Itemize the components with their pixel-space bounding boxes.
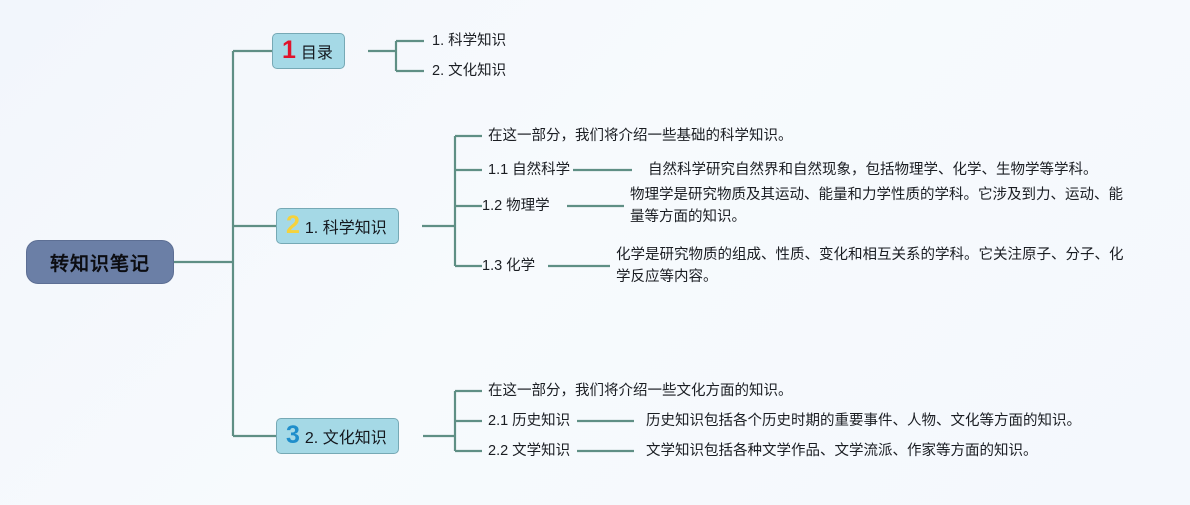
branch-label-culture: 2. 文化知识 <box>305 424 387 448</box>
leaf-title: 1.1 自然科学 <box>488 162 570 178</box>
branch-node-science[interactable]: 2 1. 科学知识 <box>276 208 399 244</box>
leaf-culture-intro[interactable]: 在这一部分，我们将介绍一些文化方面的知识。 <box>488 381 793 403</box>
leaf-culture-2-2-desc[interactable]: 文学知识包括各种文学作品、文学流派、作家等方面的知识。 <box>646 441 1038 463</box>
root-node[interactable]: 转知识笔记 <box>26 240 174 284</box>
leaf-desc: 化学是研究物质的组成、性质、变化和相互关系的学科。它关注原子、分子、化学反应等内… <box>616 247 1124 285</box>
root-label: 转知识笔记 <box>50 249 150 276</box>
branch-number-2: 2 <box>286 213 300 238</box>
leaf-culture-2-2-title[interactable]: 2.2 文学知识 <box>488 441 570 463</box>
leaf-desc: 自然科学研究自然界和自然现象，包括物理学、化学、生物学等学科。 <box>648 162 1098 178</box>
leaf-culture-2-1-desc[interactable]: 历史知识包括各个历史时期的重要事件、人物、文化等方面的知识。 <box>646 411 1081 433</box>
leaf-science-1-1-title[interactable]: 1.1 自然科学 <box>488 160 570 182</box>
leaf-desc: 文学知识包括各种文学作品、文学流派、作家等方面的知识。 <box>646 443 1038 459</box>
leaf-science-1-2-desc[interactable]: 物理学是研究物质及其运动、能量和力学性质的学科。它涉及到力、运动、能量等方面的知… <box>630 185 1128 229</box>
leaf-title: 2.1 历史知识 <box>488 413 570 429</box>
leaf-catalog-2[interactable]: 2. 文化知识 <box>432 61 506 83</box>
leaf-title: 2.2 文学知识 <box>488 443 570 459</box>
leaf-desc: 历史知识包括各个历史时期的重要事件、人物、文化等方面的知识。 <box>646 413 1081 429</box>
leaf-science-1-2-title[interactable]: 1.2 物理学 <box>482 196 550 218</box>
leaf-title: 在这一部分，我们将介绍一些文化方面的知识。 <box>488 383 793 399</box>
branch-label-catalog: 目录 <box>301 39 333 63</box>
leaf-science-1-3-desc[interactable]: 化学是研究物质的组成、性质、变化和相互关系的学科。它关注原子、分子、化学反应等内… <box>616 245 1128 289</box>
mindmap-canvas: 转知识笔记 1 目录 1. 科学知识 2. 文化知识 2 1. 科学知识 在这一… <box>0 0 1190 505</box>
leaf-science-intro[interactable]: 在这一部分，我们将介绍一些基础的科学知识。 <box>488 126 793 148</box>
leaf-title: 1.2 物理学 <box>482 198 550 214</box>
branch-number-1: 1 <box>282 38 296 63</box>
branch-node-catalog[interactable]: 1 目录 <box>272 33 345 69</box>
leaf-science-1-3-title[interactable]: 1.3 化学 <box>482 256 535 278</box>
leaf-title: 在这一部分，我们将介绍一些基础的科学知识。 <box>488 128 793 144</box>
leaf-title: 2. 文化知识 <box>432 63 506 79</box>
leaf-desc: 物理学是研究物质及其运动、能量和力学性质的学科。它涉及到力、运动、能量等方面的知… <box>630 187 1123 225</box>
branch-label-science: 1. 科学知识 <box>305 214 387 238</box>
branch-node-culture[interactable]: 3 2. 文化知识 <box>276 418 399 454</box>
leaf-culture-2-1-title[interactable]: 2.1 历史知识 <box>488 411 570 433</box>
leaf-catalog-1[interactable]: 1. 科学知识 <box>432 31 506 53</box>
branch-number-3: 3 <box>286 423 300 448</box>
leaf-science-1-1-desc[interactable]: 自然科学研究自然界和自然现象，包括物理学、化学、生物学等学科。 <box>648 160 1098 182</box>
leaf-title: 1.3 化学 <box>482 258 535 274</box>
leaf-title: 1. 科学知识 <box>432 33 506 49</box>
